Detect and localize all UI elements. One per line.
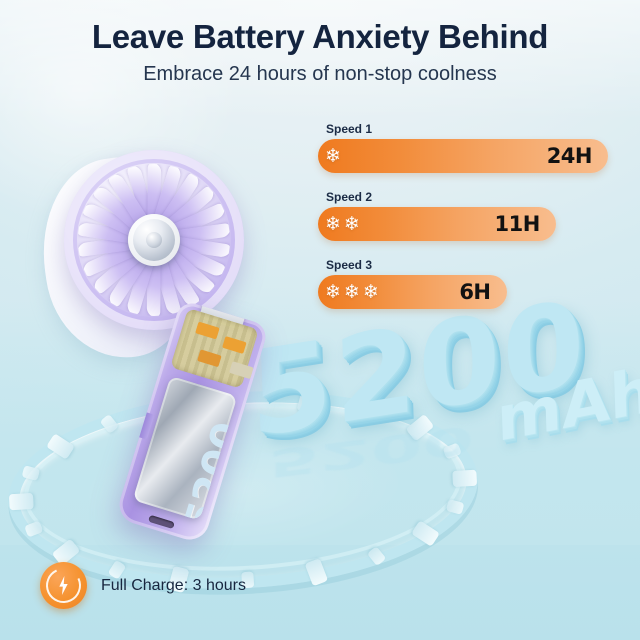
charging-port xyxy=(148,515,175,529)
snowflake-icon: ❄ xyxy=(363,283,379,302)
lightning-bolt-icon xyxy=(40,562,87,609)
speed-row: Speed 2❄❄11H xyxy=(318,190,608,241)
page-title: Leave Battery Anxiety Behind xyxy=(0,18,640,56)
speed-row: Speed 1❄24H xyxy=(318,122,608,173)
speed-row-label: Speed 1 xyxy=(326,122,608,136)
page-subtitle: Embrace 24 hours of non-stop coolness xyxy=(0,63,640,86)
infographic-canvas: 5200 5200 mAh 5200mAh Leave Battery Anxi… xyxy=(0,0,640,640)
fan-hub xyxy=(128,214,180,266)
snowflake-group: ❄❄❄ xyxy=(318,283,379,302)
snowflake-icon: ❄ xyxy=(325,215,341,234)
snowflake-icon: ❄ xyxy=(325,283,341,302)
snowflake-icon: ❄ xyxy=(344,215,360,234)
snowflake-icon: ❄ xyxy=(344,283,360,302)
speed-bar: ❄24H xyxy=(318,139,608,173)
snowflake-group: ❄ xyxy=(318,147,341,166)
snowflake-group: ❄❄ xyxy=(318,215,360,234)
dial-tick xyxy=(9,493,34,510)
battery-label-unit: mAh xyxy=(232,391,237,428)
speed-hours-value: 24H xyxy=(547,144,608,168)
bolt-glyph xyxy=(58,576,69,595)
full-charge-badge: Full Charge: 3 hours xyxy=(40,562,246,609)
fan-head xyxy=(64,150,244,330)
speed-bar: ❄❄❄6H xyxy=(318,275,507,309)
battery-cell: 5200mAh xyxy=(133,376,238,521)
battery-label-number: 5200 xyxy=(176,417,238,520)
speed-chart: Speed 1❄24HSpeed 2❄❄11HSpeed 3❄❄❄6H xyxy=(318,122,608,326)
circuit-board xyxy=(170,308,259,389)
dial-tick xyxy=(452,470,477,487)
speed-bar: ❄❄11H xyxy=(318,207,556,241)
speed-hours-value: 11H xyxy=(494,212,555,236)
battery-label: 5200mAh xyxy=(175,382,238,520)
speed-row: Speed 3❄❄❄6H xyxy=(318,258,608,309)
product-image: 5200mAh xyxy=(34,140,334,540)
snowflake-icon: ❄ xyxy=(325,147,341,166)
full-charge-label: Full Charge: 3 hours xyxy=(101,577,246,595)
speed-row-label: Speed 3 xyxy=(326,258,608,272)
speed-hours-value: 6H xyxy=(459,280,506,304)
speed-row-label: Speed 2 xyxy=(326,190,608,204)
